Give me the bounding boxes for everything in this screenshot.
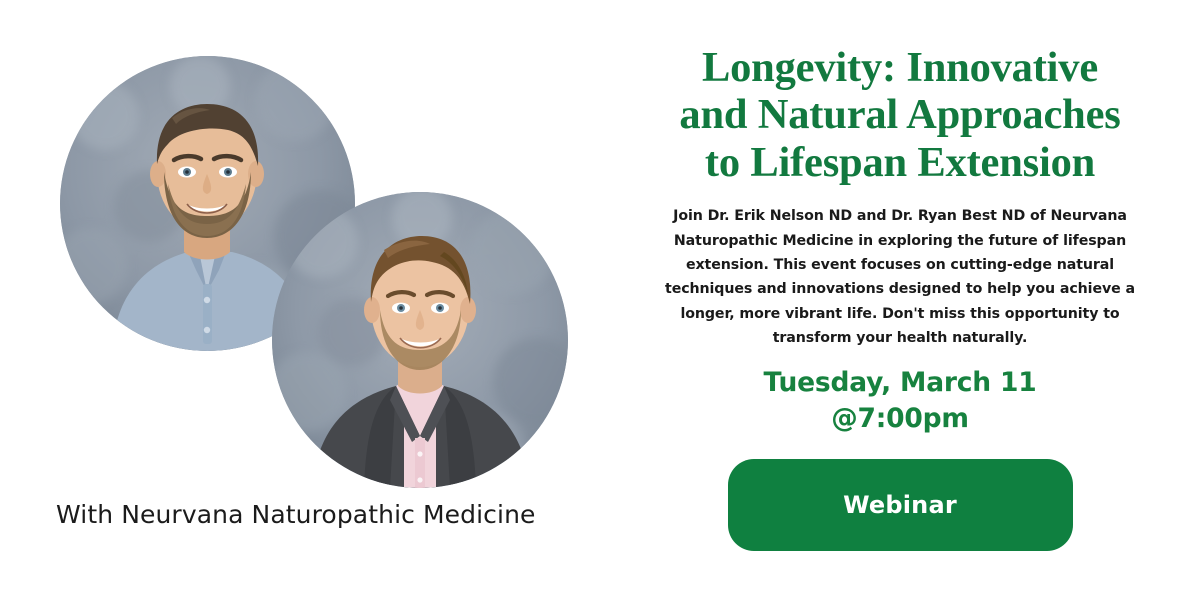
cta-container: Webinar (612, 438, 1188, 551)
photo-column: With Neurvana Naturopathic Medicine (0, 0, 600, 600)
event-datetime: Tuesday, March 11 @7:00pm (612, 351, 1188, 438)
headline-line-2: and Natural Approaches (614, 91, 1186, 138)
portrait-photo-ryan-best (272, 192, 568, 488)
event-date: Tuesday, March 11 (764, 367, 1037, 398)
portrait-two-illustration (272, 192, 568, 488)
headline-line-1: Longevity: Innovative (614, 44, 1186, 91)
event-headline: Longevity: Innovative and Natural Approa… (612, 0, 1188, 186)
webinar-button[interactable]: Webinar (728, 459, 1073, 551)
event-promo-poster: With Neurvana Naturopathic Medicine Long… (0, 0, 1200, 600)
headline-line-3: to Lifespan Extension (614, 139, 1186, 186)
photo-caption: With Neurvana Naturopathic Medicine (56, 500, 536, 529)
event-details-column: Longevity: Innovative and Natural Approa… (612, 0, 1188, 600)
event-description: Join Dr. Erik Nelson ND and Dr. Ryan Bes… (612, 186, 1188, 351)
event-time: @7:00pm (612, 401, 1188, 438)
